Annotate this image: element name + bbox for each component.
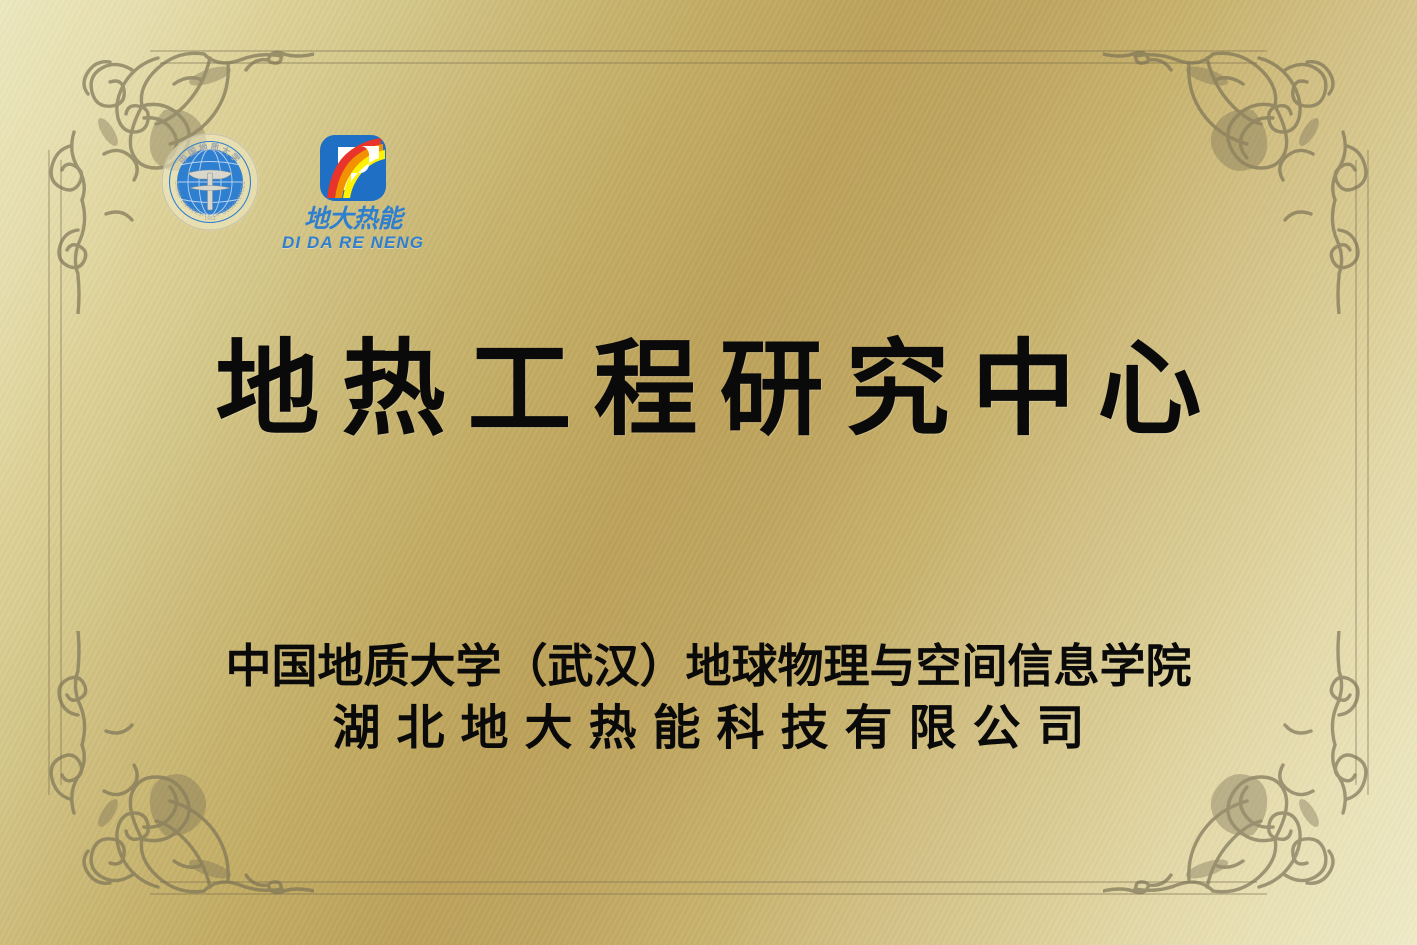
frame-line-top-outer [150, 50, 1267, 52]
floral-scroll-corner-ornament-top-right [1103, 14, 1403, 314]
frame-line-bottom-outer [150, 893, 1267, 895]
didareneng-mark-icon [319, 134, 387, 202]
page-title: 地热工程研究中心 [0, 333, 1417, 445]
organization-name-university: 中国地质大学（武汉）地球物理与空间信息学院 [0, 638, 1417, 694]
svg-text:1952: 1952 [204, 216, 215, 222]
logo-group: 中国地质大学 CHINA UNIVERSITY OF GEOSCIENCES 1… [160, 132, 424, 251]
organization-name-company: 湖北地大热能科技有限公司 [0, 698, 1417, 758]
organization-names: 中国地质大学（武汉）地球物理与空间信息学院 湖北地大热能科技有限公司 [0, 638, 1417, 758]
didareneng-logo: 地大热能 DI DA RE NENG [282, 132, 424, 251]
svg-text:地大热能: 地大热能 [304, 204, 406, 233]
china-university-of-geosciences-emblem-icon: 中国地质大学 CHINA UNIVERSITY OF GEOSCIENCES 1… [160, 132, 260, 232]
frame-line-bottom-inner [160, 881, 1257, 883]
didareneng-chinese-wordmark: 地大热能 [283, 203, 423, 233]
frame-line-top-inner [160, 62, 1257, 64]
didareneng-latin-wordmark: DI DA RE NENG [282, 234, 424, 251]
award-plaque: 中国地质大学 CHINA UNIVERSITY OF GEOSCIENCES 1… [0, 0, 1417, 945]
